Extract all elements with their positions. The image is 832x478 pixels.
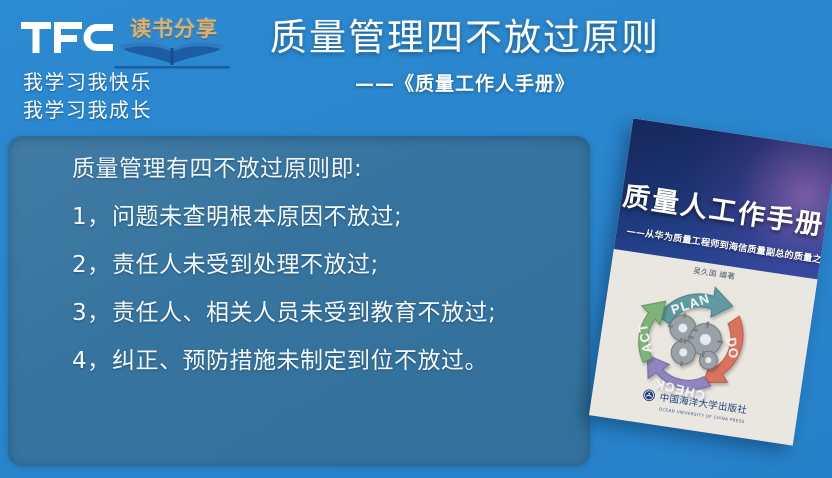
principle-text: 问题未查明根本原因不放过;	[112, 204, 402, 230]
page-subtitle: ——《质量工作人手册》	[255, 69, 675, 96]
principle-text: 责任人未受到处理不放过;	[112, 252, 379, 278]
brand-tagline: 读书分享	[114, 18, 234, 39]
page-title: 质量管理四不放过原则	[255, 18, 675, 58]
principle-text: 责任人、相关人员未受到教育不放过;	[112, 300, 496, 326]
brand-mottos: 我学习我快乐 我学习我成长	[23, 68, 152, 125]
brand-tagline-row: 读书分享	[114, 18, 234, 39]
content-lead: 质量管理有四不放过原则即:	[72, 158, 580, 181]
principle-text: 纠正、预防措施未制定到位不放过。	[112, 348, 488, 374]
brand-block: 读书分享 我学习我快乐 我学习我成长	[18, 14, 248, 129]
tfc-logo-icon	[21, 20, 113, 56]
content-body: 质量管理有四不放过原则即: 1，问题未查明根本原因不放过; 2，责任人未受到处理…	[72, 158, 580, 373]
principle-item-2: 2，责任人未受到处理不放过;	[72, 254, 580, 277]
slide-canvas: 读书分享 我学习我快乐 我学习我成长 质量管理四不放过原则 ——《质量工作人手册…	[0, 0, 832, 478]
motto-line-1: 我学习我快乐	[23, 68, 152, 96]
principle-item-4: 4，纠正、预防措施未制定到位不放过。	[72, 350, 580, 373]
pdca-step-act: ACT	[629, 297, 665, 364]
principle-number: 2，	[72, 254, 112, 277]
motto-line-2: 我学习我成长	[23, 96, 152, 124]
principle-number: 1，	[72, 206, 112, 229]
principle-item-1: 1，问题未查明根本原因不放过;	[72, 206, 580, 229]
content-panel: 质量管理有四不放过原则即: 1，问题未查明根本原因不放过; 2，责任人未受到处理…	[8, 136, 590, 466]
book-cover: 质量人工作手册 ——从华为质量工程师到海信质量副总的质量之路 吴久国 编著 PL…	[589, 118, 832, 445]
svg-text:DO: DO	[724, 337, 742, 361]
ouc-press-seal-icon	[641, 388, 657, 408]
principle-number: 3，	[72, 302, 112, 325]
principle-number: 4，	[72, 350, 112, 373]
principle-item-3: 3，责任人、相关人员未受到教育不放过;	[72, 302, 580, 325]
gears-icon	[662, 311, 726, 372]
title-block: 质量管理四不放过原则 ——《质量工作人手册》	[255, 18, 675, 96]
book-photo: 质量人工作手册 ——从华为质量工程师到海信质量副总的质量之路 吴久国 编著 PL…	[598, 118, 832, 458]
svg-text:ACT: ACT	[635, 322, 655, 354]
